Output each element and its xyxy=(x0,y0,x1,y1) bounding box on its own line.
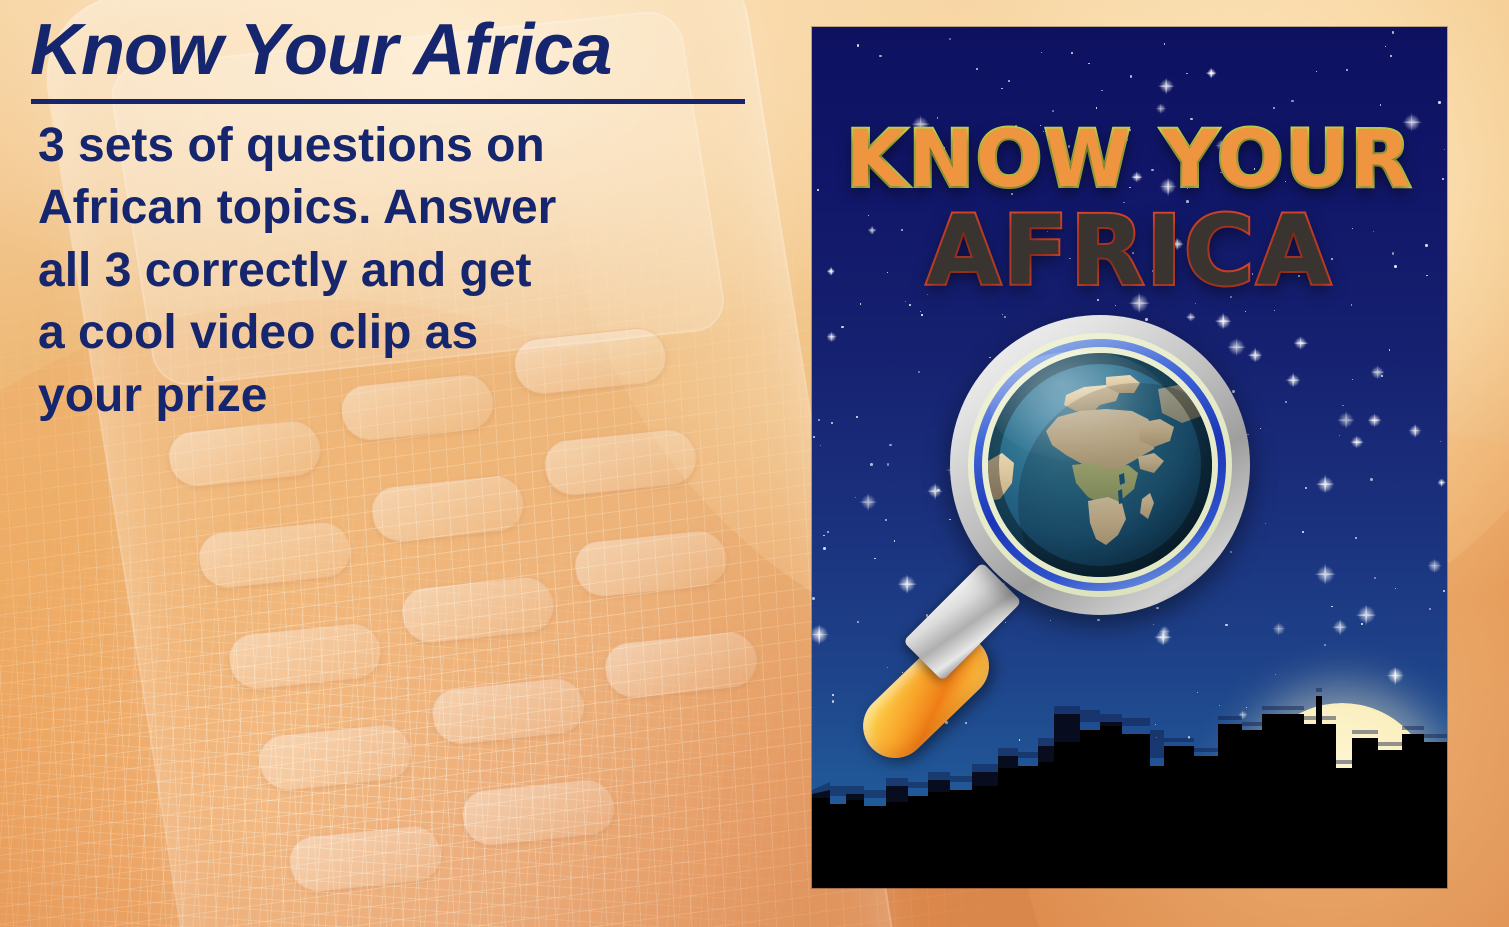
page-title: Know Your Africa xyxy=(30,14,790,86)
globe-africa-icon xyxy=(988,353,1212,577)
globe-landmass xyxy=(988,353,1212,577)
slide-canvas: Know Your Africa 3 sets of questions on … xyxy=(0,0,1509,927)
know-your-africa-poster-image: KNOW YOUR AFRICA xyxy=(812,27,1447,888)
body-copy-line: a cool video clip as xyxy=(38,302,738,364)
body-copy-line: African topics. Answer xyxy=(38,177,738,239)
body-copy: 3 sets of questions on African topics. A… xyxy=(38,115,738,427)
page-title-underline xyxy=(31,99,745,104)
body-copy-line: all 3 correctly and get xyxy=(38,240,738,302)
body-copy-line: 3 sets of questions on xyxy=(38,115,738,177)
background-mesh-overlay-secondary xyxy=(0,387,943,927)
magnifier-lens-rim xyxy=(950,315,1250,615)
magnifying-glass-icon xyxy=(812,27,1447,888)
body-copy-line: your prize xyxy=(38,365,738,427)
